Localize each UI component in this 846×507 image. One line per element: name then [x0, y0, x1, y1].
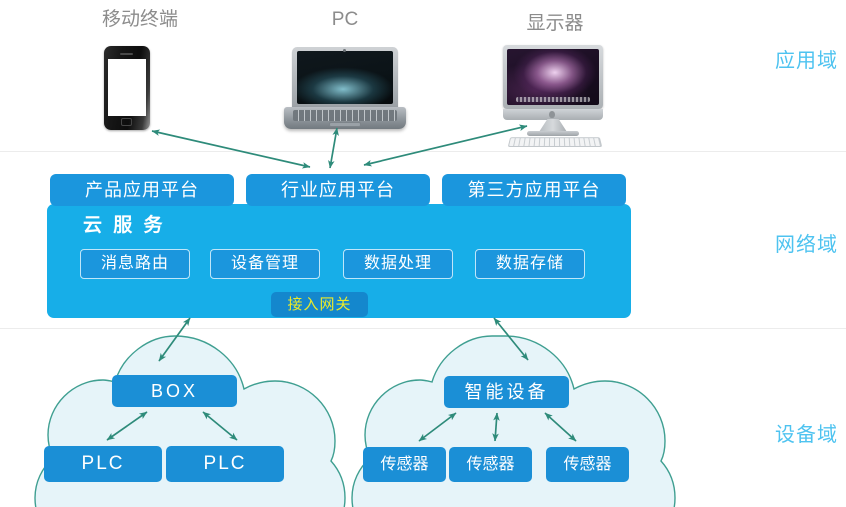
laptop-trackpad — [329, 122, 361, 127]
apple-logo-icon — [549, 111, 555, 118]
laptop-base — [284, 107, 406, 129]
service-box-message-routing[interactable]: 消息路由 — [80, 249, 190, 279]
service-box-data-storage[interactable]: 数据存储 — [475, 249, 585, 279]
device-box-smart-device[interactable]: 智能设备 — [444, 376, 569, 408]
device-box-box[interactable]: BOX — [112, 375, 237, 407]
imac-icon — [497, 45, 609, 149]
cloud-service-panel: 云 服 务 消息路由 设备管理 数据处理 数据存储 接入网关 — [47, 204, 631, 318]
platform-button-industry[interactable]: 行业应用平台 — [246, 174, 430, 206]
monitor-dock — [516, 97, 590, 102]
device-box-plc-1[interactable]: PLC — [44, 446, 162, 482]
laptop-lid — [292, 47, 398, 109]
device-box-plc-2[interactable]: PLC — [166, 446, 284, 482]
device-box-sensor-2[interactable]: 传感器 — [449, 447, 532, 482]
app-network-divider — [0, 151, 846, 152]
phone-screen — [108, 59, 146, 116]
platform-button-thirdparty[interactable]: 第三方应用平台 — [442, 174, 626, 206]
device-box-sensor-3[interactable]: 传感器 — [546, 447, 629, 482]
laptop-keyboard — [293, 110, 397, 121]
access-gateway-box[interactable]: 接入网关 — [271, 292, 368, 317]
service-box-data-processing[interactable]: 数据处理 — [343, 249, 453, 279]
service-box-device-management[interactable]: 设备管理 — [210, 249, 320, 279]
monitor-bezel — [503, 45, 603, 109]
architecture-diagram: 应用域 网络域 设备域 移动终端 PC 显示器 产品应用平台 — [0, 0, 846, 507]
platform-button-product[interactable]: 产品应用平台 — [50, 174, 234, 206]
laptop-camera — [343, 49, 346, 52]
phone-speaker — [120, 53, 133, 55]
keyboard-icon — [508, 137, 602, 147]
device-box-sensor-1[interactable]: 传感器 — [363, 447, 446, 482]
domain-label-network: 网络域 — [775, 232, 838, 258]
domain-label-device: 设备域 — [775, 422, 838, 448]
domain-label-application: 应用域 — [775, 48, 838, 74]
network-device-divider — [0, 328, 846, 329]
device-caption-mobile: 移动终端 — [70, 8, 210, 32]
laptop-screen — [297, 51, 393, 104]
monitor-screen — [507, 49, 599, 105]
laptop-icon — [284, 47, 406, 131]
device-caption-pc: PC — [275, 8, 415, 32]
monitor-stand-foot — [527, 131, 579, 136]
device-caption-monitor: 显示器 — [485, 12, 625, 36]
cloud-service-title: 云 服 务 — [83, 214, 166, 238]
smartphone-icon — [104, 46, 150, 132]
phone-home-button — [121, 118, 132, 126]
